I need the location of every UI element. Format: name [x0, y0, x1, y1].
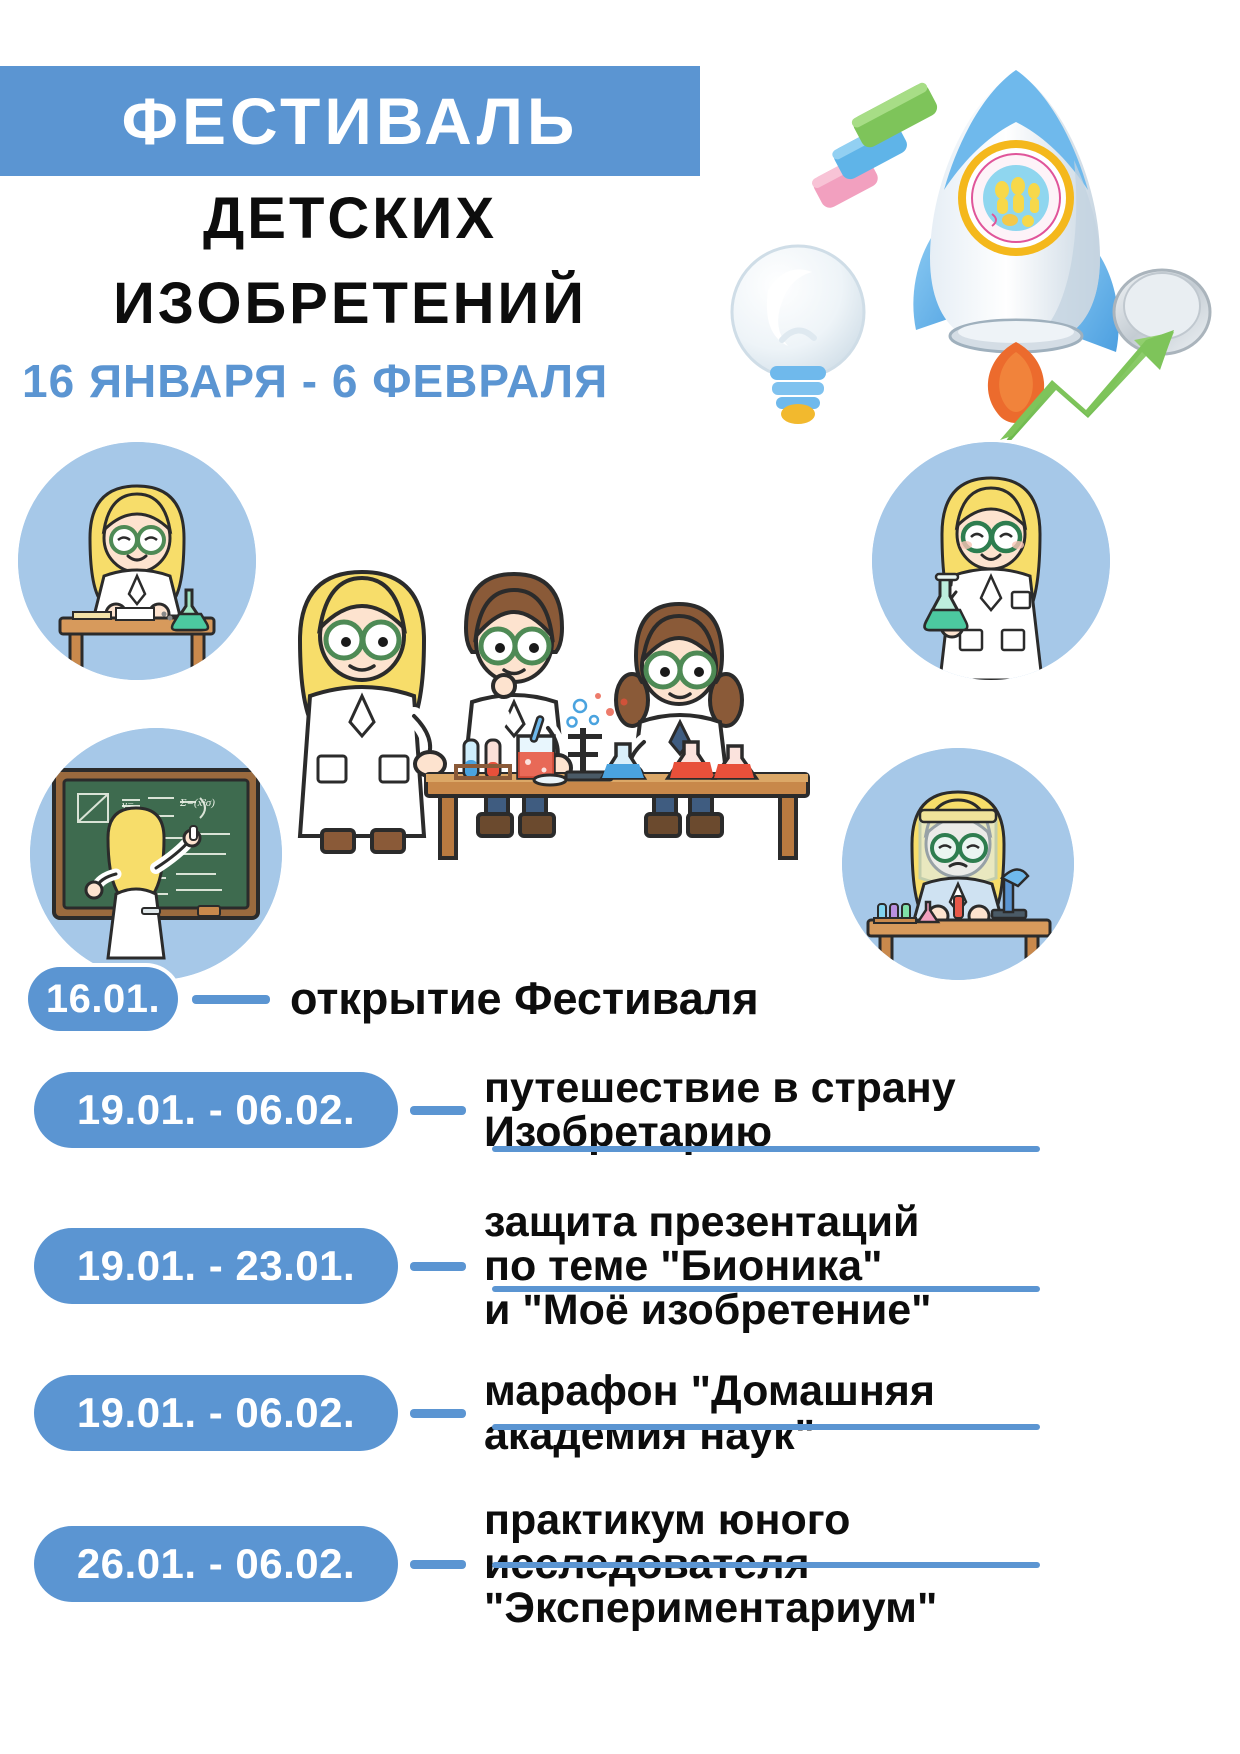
schedule-separator: [492, 1146, 1040, 1152]
test-tube-rack: [874, 904, 916, 923]
schedule-description: марафон "Домашняя академия наук": [484, 1369, 1240, 1458]
schedule-date-label: 16.01.: [46, 979, 160, 1019]
date-range: 16 ЯНВАРЯ - 6 ФЕВРАЛЯ: [22, 358, 742, 404]
festival-logo-emblem: [958, 140, 1074, 256]
badge-girl-at-desk: [18, 442, 256, 680]
schedule-separator: [492, 1562, 1040, 1568]
child-scientist-blonde: [300, 572, 445, 852]
schedule-separator: [492, 1286, 1040, 1292]
lab-scene-illustration: [280, 520, 820, 860]
schedule-description: открытие Фестиваля: [290, 976, 1240, 1022]
schedule-date-pill: 19.01. - 06.02.: [34, 1375, 398, 1451]
connector-dash: [410, 1106, 466, 1115]
bubbles: [568, 700, 599, 727]
schedule-row: 19.01. - 06.02. марафон "Домашняя академ…: [0, 1358, 1240, 1468]
rocket-cluster-illustration: [690, 40, 1240, 440]
lightbulb-icon: [732, 246, 864, 424]
schedule-separator: [492, 1424, 1040, 1430]
schedule-row: 19.01. - 23.01. защита презентаций по те…: [0, 1186, 1240, 1346]
schedule-date-pill: 26.01. - 06.02.: [34, 1526, 398, 1602]
connector-dash: [410, 1262, 466, 1271]
schedule-date-label: 19.01. - 06.02.: [77, 1392, 355, 1434]
badge-girl-at-chalkboard: y= Σ=(x²σ): [30, 728, 282, 980]
subtitle-line-1: ДЕТСКИХ: [0, 190, 700, 248]
schedule-date-label: 19.01. - 06.02.: [77, 1089, 355, 1131]
schedule-description: путешествие в страну Изобретарию: [484, 1066, 1240, 1155]
schedule-row: 16.01. открытие Фестиваля: [0, 962, 1240, 1036]
badge-girl-holding-flask: [872, 442, 1110, 680]
connector-dash: [410, 1409, 466, 1418]
title-band: ФЕСТИВАЛЬ: [0, 66, 700, 176]
page-title: ФЕСТИВАЛЬ: [122, 88, 579, 154]
rocket-icon: [913, 70, 1118, 423]
schedule-date-label: 19.01. - 23.01.: [77, 1245, 355, 1287]
schedule-date-pill: 16.01.: [28, 967, 178, 1031]
connector-dash: [410, 1560, 466, 1569]
schedule-date-pill: 19.01. - 06.02.: [34, 1072, 398, 1148]
bar-chart-blocks: [810, 81, 940, 211]
schedule-date-pill: 19.01. - 23.01.: [34, 1228, 398, 1304]
child-scientist-brunette: [616, 604, 742, 836]
schedule-date-label: 26.01. - 06.02.: [77, 1543, 355, 1585]
svg-text:Σ=(x²σ): Σ=(x²σ): [179, 797, 215, 809]
connector-dash: [192, 995, 270, 1004]
festival-poster: ФЕСТИВАЛЬ ДЕТСКИХ ИЗОБРЕТЕНИЙ 16 ЯНВАРЯ …: [0, 0, 1240, 1754]
subtitle-line-2: ИЗОБРЕТЕНИЙ: [0, 275, 700, 333]
schedule-list: 16.01. открытие Фестиваля 19.01. - 06.02…: [0, 946, 1240, 1754]
schedule-description: защита презентаций по теме "Бионика" и "…: [484, 1200, 1240, 1333]
